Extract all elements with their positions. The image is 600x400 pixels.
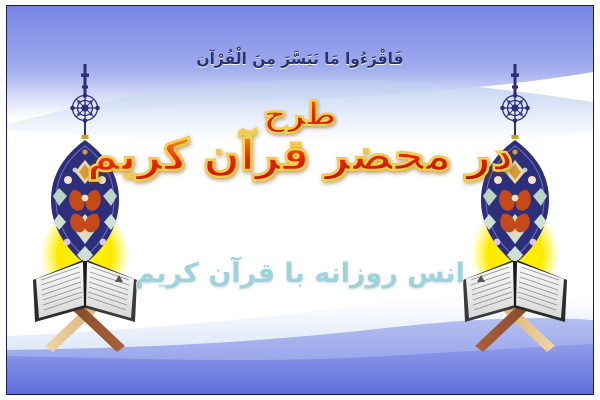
subtitle-text: انس روزانه با قرآن کریم: [7, 258, 593, 289]
poster-root: فَاقْرَءُوا مَا تَيَسَّرَ مِنَ الْقُرْآن…: [0, 0, 600, 400]
title-large: در محضر قرآن کریم: [7, 134, 593, 180]
finial-spire-icon: [82, 64, 89, 94]
quran-verse-text: فَاقْرَءُوا مَا تَيَسَّرَ مِنَ الْقُرْآن: [7, 50, 593, 68]
finial-spire-icon: [512, 64, 519, 94]
title-block: طرح در محضر قرآن کریم: [7, 98, 593, 179]
poster-canvas: فَاقْرَءُوا مَا تَيَسَّرَ مِنَ الْقُرْآن…: [7, 6, 593, 394]
title-small: طرح: [7, 98, 593, 132]
poster-frame: فَاقْرَءُوا مَا تَيَسَّرَ مِنَ الْقُرْآن…: [6, 5, 594, 395]
